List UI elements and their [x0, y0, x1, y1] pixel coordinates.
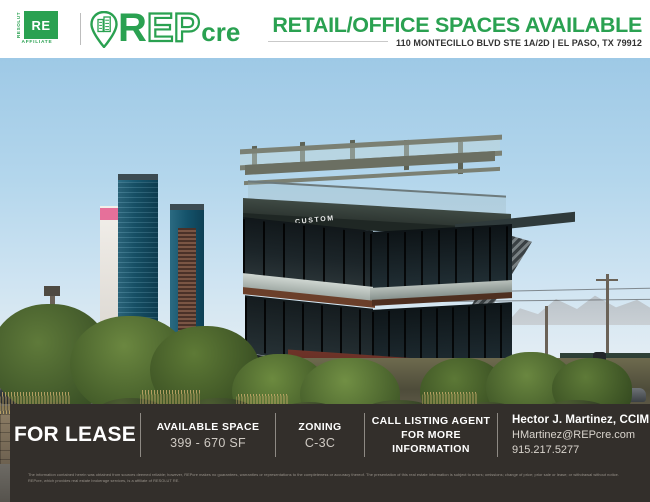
page-title: RETAIL/OFFICE SPACES AVAILABLE	[272, 13, 642, 38]
listing-footer-panel: FOR LEASE AVAILABLE SPACE 399 - 670 SF Z…	[10, 404, 650, 502]
agent-name: Hector J. Martinez, CCIM	[512, 413, 650, 428]
header-rule	[268, 41, 388, 42]
utility-pole-crossarm	[596, 279, 618, 281]
flyer-page: RESOLUT RE AFFILIATE R E P cre	[0, 0, 650, 502]
light-pole-head	[44, 286, 60, 296]
call-agent-line1: CALL LISTING AGENT	[371, 414, 491, 428]
legal-disclaimer: The information contained herein was obt…	[28, 472, 628, 485]
background-tower-accent	[100, 208, 120, 220]
wordmark-p: P	[174, 8, 201, 48]
header-bar: RESOLUT RE AFFILIATE R E P cre	[0, 0, 650, 58]
resolut-affiliate-logo: RESOLUT RE AFFILIATE	[14, 11, 72, 47]
agent-contact-block: Hector J. Martinez, CCIM HMartinez@REPcr…	[498, 413, 650, 458]
available-space-label: AVAILABLE SPACE	[147, 420, 269, 434]
wordmark-e: E	[147, 8, 174, 48]
call-agent-cell: CALL LISTING AGENT FOR MORE INFORMATION	[365, 414, 497, 456]
available-space-cell: AVAILABLE SPACE 399 - 670 SF	[141, 420, 275, 451]
resolut-re-badge: RE	[24, 11, 58, 39]
zoning-label: ZONING	[282, 420, 358, 434]
call-agent-line2: FOR MORE INFORMATION	[371, 428, 491, 456]
wordmark-r: R	[118, 8, 147, 48]
property-address: 110 MONTECILLO BLVD STE 1A/2D | EL PASO,…	[396, 38, 642, 48]
repcre-wordmark: R E P cre	[118, 8, 240, 50]
map-pin-building-icon	[90, 11, 118, 48]
available-space-value: 399 - 670 SF	[147, 435, 269, 451]
header-divider	[80, 13, 81, 45]
agent-email[interactable]: HMartinez@REPcre.com	[512, 428, 650, 443]
for-lease-label: FOR LEASE	[10, 423, 140, 447]
resolut-vertical-text: RESOLUT	[14, 11, 23, 39]
listing-details-row: FOR LEASE AVAILABLE SPACE 399 - 670 SF Z…	[10, 404, 650, 466]
zoning-value: C-3C	[282, 435, 358, 451]
wordmark-cre: cre	[201, 19, 240, 45]
agent-phone[interactable]: 915.217.5277	[512, 443, 650, 458]
zoning-cell: ZONING C-3C	[276, 420, 364, 451]
resolut-affiliate-caption: AFFILIATE	[14, 40, 60, 45]
